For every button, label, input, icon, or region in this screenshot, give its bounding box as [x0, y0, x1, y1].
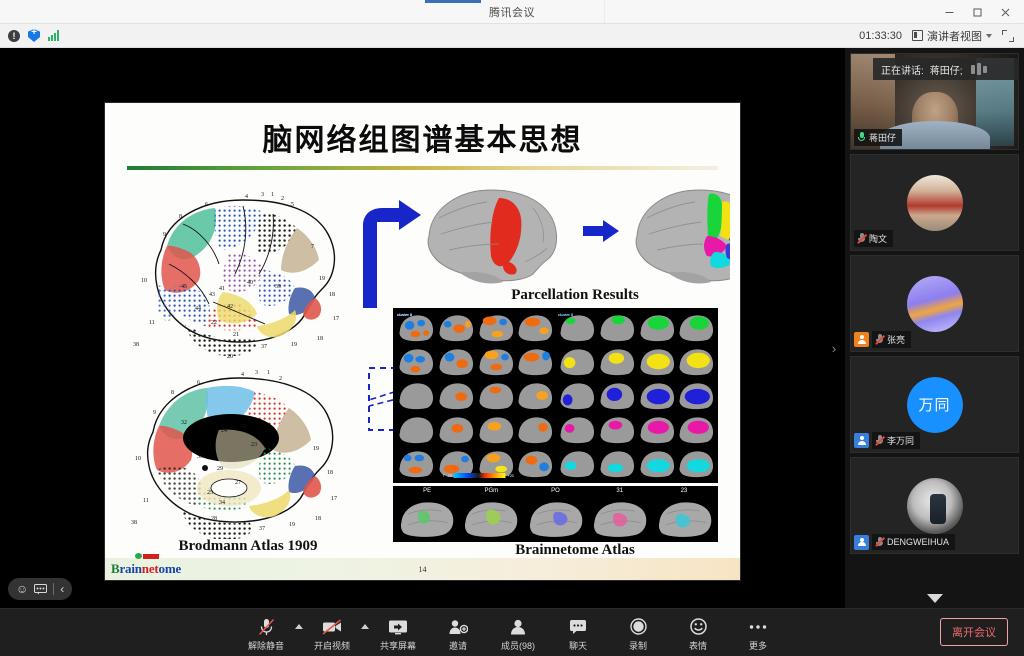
brain-cell	[588, 497, 651, 540]
mic-muted-icon	[875, 334, 884, 346]
svg-text:44: 44	[195, 306, 201, 312]
cluster-row: cluster 2	[557, 345, 715, 378]
region-label: PE	[395, 488, 459, 497]
colorbar-legend: T -20 +20	[443, 473, 514, 478]
participant-name-chip: 李万同	[872, 432, 920, 449]
slide-body: 643 125 8910 11719 181718 193720 384544 …	[105, 170, 740, 570]
svg-text:45: 45	[181, 284, 187, 290]
brodmann-atlas-figure: 643 125 8910 11719 181718 193720 384544 …	[123, 184, 368, 539]
svg-text:43: 43	[209, 292, 215, 298]
svg-text:38: 38	[131, 520, 137, 526]
window-controls	[936, 3, 1018, 21]
svg-text:6: 6	[197, 380, 200, 386]
toolbar-label: 成员(98)	[501, 639, 535, 652]
member-badge-icon	[854, 535, 869, 550]
mic-muted-icon	[875, 435, 884, 447]
leave-meeting-button[interactable]: 离开会议	[940, 618, 1008, 646]
svg-text:3: 3	[261, 192, 264, 198]
avatar	[907, 478, 963, 534]
participant-name-bar: 蒋田仔	[854, 129, 902, 146]
brain-cell	[515, 311, 554, 344]
member-badge-icon	[854, 433, 869, 448]
svg-text:6: 6	[205, 202, 208, 208]
svg-text:38: 38	[133, 342, 139, 348]
view-mode-selector[interactable]: 演讲者视图	[912, 28, 992, 44]
participant-name: 蒋田仔	[869, 131, 896, 144]
brain-cell	[557, 413, 596, 446]
svg-text:19: 19	[313, 446, 319, 452]
brain-cell	[557, 379, 596, 412]
colorbar-label: T	[443, 474, 445, 478]
meeting-status-bar: ! 01:33:30 演讲者视图	[0, 24, 1024, 48]
svg-text:37: 37	[261, 344, 267, 350]
svg-text:42: 42	[227, 304, 233, 310]
cluster-row: cluster 2	[396, 345, 554, 378]
brain-cell	[459, 497, 522, 540]
chevron-down-icon	[986, 34, 992, 38]
participant-name-bar: DENGWEIHUA	[854, 534, 955, 550]
brain-cell	[637, 413, 676, 446]
share-screen-icon	[388, 618, 408, 636]
mic-muted-icon	[875, 536, 884, 548]
presentation-slide: 脑网络组图谱基本思想	[105, 103, 740, 580]
svg-text:2: 2	[279, 376, 282, 382]
brain-cell	[676, 447, 715, 480]
video-off-icon	[322, 618, 342, 636]
svg-text:37: 37	[259, 526, 265, 532]
toolbar-label: 开启视频	[314, 639, 350, 652]
region-detail-panel: PE PGm PO 31 23	[393, 486, 718, 542]
region-label: PGm	[459, 488, 523, 497]
rail-scroll-down-button[interactable]	[845, 594, 1024, 606]
mic-muted-icon	[857, 233, 866, 245]
participant-name-chip: 蒋田仔	[854, 129, 902, 146]
svg-text:20: 20	[227, 354, 233, 360]
svg-text:7: 7	[311, 244, 314, 250]
svg-text:33: 33	[197, 454, 203, 460]
toolbar-invite-button[interactable]: 邀请	[437, 615, 479, 652]
close-button[interactable]	[992, 3, 1018, 21]
toolbar-items: 解除静音 开启视频	[0, 609, 1024, 656]
toolbar-unmute-button[interactable]: 解除静音	[245, 615, 287, 652]
participant-name: 陶文	[869, 232, 887, 245]
svg-text:25: 25	[207, 490, 213, 496]
chat-bubble-icon[interactable]	[34, 584, 47, 595]
toolbar-label: 聊天	[569, 639, 587, 652]
brain-cell	[557, 447, 596, 480]
avatar-initials: 万同	[907, 377, 963, 433]
svg-text:40: 40	[247, 280, 253, 286]
colorbar-gradient	[454, 473, 506, 478]
minimize-button[interactable]	[936, 3, 962, 21]
toolbar-label: 解除静音	[248, 639, 284, 652]
svg-text:18: 18	[329, 292, 335, 298]
window-title: 腾讯会议	[0, 4, 1024, 20]
svg-text:32: 32	[181, 420, 187, 426]
reaction-icon	[690, 618, 707, 636]
svg-text:4: 4	[245, 194, 248, 200]
cluster-row: cluster 4	[557, 413, 715, 446]
brain-cell	[396, 345, 435, 378]
toolbar-reaction-button[interactable]: 表情	[677, 615, 719, 652]
cluster-row: cluster 1	[557, 311, 715, 344]
svg-text:28: 28	[211, 516, 217, 522]
svg-text:4: 4	[241, 372, 244, 378]
network-signal-icon[interactable]	[48, 30, 59, 41]
brain-cell	[676, 413, 715, 446]
chat-icon	[569, 618, 587, 636]
brain-cell	[396, 379, 435, 412]
brain-cell	[637, 311, 676, 344]
svg-text:3: 3	[255, 370, 258, 376]
more-icon	[748, 618, 768, 636]
title-bar: 腾讯会议	[0, 0, 1024, 24]
toolbar-participants-button[interactable]: 成员(98)	[497, 615, 539, 652]
svg-text:27: 27	[235, 480, 241, 486]
toolbar-more-button[interactable]: 更多	[737, 615, 779, 652]
brain-cell	[597, 413, 636, 446]
speaking-name: 蒋田仔;	[930, 62, 963, 77]
video-options-arrow-icon[interactable]	[361, 624, 369, 629]
slide-page-number: 14	[105, 565, 740, 574]
brain-cell	[515, 447, 554, 480]
shared-screen-stage: › ☺ ‹ 脑网络组图谱基本思想	[0, 48, 845, 608]
region-brain-row	[395, 497, 716, 540]
pill-divider	[53, 583, 54, 595]
brain-cell	[524, 497, 587, 540]
participant-tile[interactable]: 陶文	[850, 154, 1019, 251]
svg-text:8: 8	[179, 214, 182, 220]
svg-text:31: 31	[241, 424, 247, 430]
brain-cell	[597, 311, 636, 344]
activation-map-half: cluster 1	[396, 311, 554, 480]
cluster-row: cluster 5	[557, 447, 715, 480]
participants-icon	[509, 618, 527, 636]
logo-mark-icon	[135, 553, 159, 559]
svg-text:17: 17	[333, 316, 339, 322]
svg-text:1: 1	[267, 370, 270, 376]
svg-text:19: 19	[291, 342, 297, 348]
participant-name-chip: DENGWEIHUA	[872, 534, 955, 550]
svg-text:8: 8	[171, 390, 174, 396]
participant-name-bar: 张亮	[854, 331, 911, 348]
toolbar-label: 邀请	[449, 639, 467, 652]
cluster-label: cluster 5	[397, 312, 412, 317]
floating-reaction-pill: ☺ ‹	[8, 578, 72, 600]
stage-collapse-chevron-icon[interactable]: ›	[827, 338, 841, 360]
svg-text:11: 11	[149, 320, 155, 326]
mic-active-icon	[857, 132, 866, 144]
active-tab-indicator	[425, 0, 481, 3]
svg-text:5: 5	[291, 202, 294, 208]
toolbar-start-video-button[interactable]: 开启视频	[311, 615, 353, 652]
svg-text:23: 23	[251, 442, 257, 448]
invite-icon	[448, 618, 468, 636]
svg-text:34: 34	[219, 500, 225, 506]
svg-text:19: 19	[319, 276, 325, 282]
region-label-row: PE PGm PO 31 23	[395, 488, 716, 497]
brain-surface-row	[415, 178, 730, 288]
audio-wave-icon	[971, 63, 987, 75]
svg-text:10: 10	[135, 456, 141, 462]
svg-text:9: 9	[153, 410, 156, 416]
toolbar-label: 表情	[689, 639, 707, 652]
meeting-toolbar: 解除静音 开启视频	[0, 608, 1024, 656]
mic-muted-icon	[258, 618, 275, 636]
toolbar-label: 共享屏幕	[380, 639, 416, 652]
brain-cell	[653, 497, 716, 540]
cluster-map-half: cluster 1 cluster 2	[557, 311, 715, 480]
brodmann-caption: Brodmann Atlas 1909	[123, 538, 373, 555]
host-badge-icon	[854, 332, 869, 347]
participant-name: 张亮	[887, 333, 905, 346]
meeting-timer: 01:33:30	[859, 30, 902, 42]
status-right-group: 01:33:30 演讲者视图	[859, 28, 1024, 44]
participant-tile[interactable]: 万同 李万同	[850, 356, 1019, 453]
toolbar-share-screen-button[interactable]: 共享屏幕	[377, 615, 419, 652]
brain-cell	[476, 311, 515, 344]
avatar	[907, 175, 963, 231]
colorbar-max: +20	[508, 474, 514, 478]
brainnetome-caption: Brainnetome Atlas	[435, 542, 715, 559]
brain-cell	[515, 413, 554, 446]
svg-text:2: 2	[281, 196, 284, 202]
fullscreen-icon[interactable]	[1002, 30, 1014, 42]
svg-text:21: 21	[233, 332, 239, 338]
parcellation-grid-panel: cluster 1	[393, 308, 718, 483]
brain-cell	[396, 447, 435, 480]
record-icon	[630, 618, 647, 636]
svg-text:10: 10	[141, 278, 147, 284]
svg-text:39: 39	[275, 284, 281, 290]
brain-cell	[395, 497, 458, 540]
participant-rail: 正在讲话: 蒋田仔; 蒋田仔 陶文	[845, 48, 1024, 608]
svg-text:41: 41	[219, 286, 225, 292]
svg-text:22: 22	[211, 320, 217, 326]
participant-name-bar: 陶文	[854, 230, 893, 247]
brain-cell	[676, 311, 715, 344]
svg-text:17: 17	[331, 496, 337, 502]
participant-name-chip: 张亮	[872, 331, 911, 348]
avatar	[907, 276, 963, 332]
speaking-prefix: 正在讲话:	[881, 62, 924, 77]
participant-tile[interactable]: 张亮	[850, 255, 1019, 352]
participant-name-bar: 李万同	[854, 432, 920, 449]
svg-text:29: 29	[217, 466, 223, 472]
participant-name: 李万同	[887, 434, 914, 447]
cluster-row: cluster 3	[396, 379, 554, 412]
svg-text:11: 11	[143, 498, 149, 504]
participant-tile[interactable]: DENGWEIHUA	[850, 457, 1019, 554]
brain-cell	[637, 447, 676, 480]
brain-cell	[637, 345, 676, 378]
speaker-view-icon	[912, 30, 923, 41]
colorbar-min: -20	[447, 474, 452, 478]
svg-text:19: 19	[289, 522, 295, 528]
avatar: 万同	[907, 377, 963, 433]
svg-text:18: 18	[317, 336, 323, 342]
parcellation-caption: Parcellation Results	[435, 287, 715, 304]
status-icons: !	[0, 29, 59, 42]
svg-text:18: 18	[315, 516, 321, 522]
info-icon[interactable]: !	[8, 30, 20, 42]
brain-cell	[676, 345, 715, 378]
toolbar-record-button[interactable]: 录制	[617, 615, 659, 652]
chevron-down-icon	[927, 594, 943, 603]
brain-cell	[597, 379, 636, 412]
region-label: 31	[588, 488, 652, 497]
cluster-row: cluster 4	[396, 413, 554, 446]
brain-cell	[515, 345, 554, 378]
region-label: PO	[523, 488, 587, 497]
maximize-button[interactable]	[964, 3, 990, 21]
brain-cell	[436, 413, 475, 446]
svg-text:1: 1	[271, 192, 274, 198]
view-mode-label: 演讲者视图	[927, 28, 982, 44]
participant-name: DENGWEIHUA	[887, 537, 949, 547]
toolbar-label: 更多	[749, 639, 767, 652]
pill-collapse-icon[interactable]: ‹	[60, 583, 64, 595]
brain-cell	[597, 447, 636, 480]
brain-cell	[476, 413, 515, 446]
emoji-icon[interactable]: ☺	[16, 583, 28, 595]
brain-cell	[436, 379, 475, 412]
participant-name-chip: 陶文	[854, 230, 893, 247]
brain-cell	[597, 345, 636, 378]
region-label: 23	[652, 488, 716, 497]
svg-text:24: 24	[221, 428, 227, 434]
brain-cell	[436, 345, 475, 378]
brain-cell	[676, 379, 715, 412]
brain-cell	[557, 345, 596, 378]
toolbar-chat-button[interactable]: 聊天	[557, 615, 599, 652]
slide-footer: Brainnetome 14	[105, 558, 740, 580]
cluster-row: cluster 1	[396, 311, 554, 344]
brain-cell	[476, 379, 515, 412]
cluster-label: cluster 5	[558, 312, 573, 317]
security-shield-icon[interactable]	[28, 29, 40, 42]
mic-options-arrow-icon[interactable]	[295, 624, 303, 629]
brain-cell	[396, 413, 435, 446]
brain-cell	[436, 311, 475, 344]
active-speaker-banner: 正在讲话: 蒋田仔;	[873, 58, 1019, 80]
svg-text:9: 9	[163, 232, 166, 238]
svg-text:18: 18	[327, 470, 333, 476]
brain-cell	[476, 345, 515, 378]
brain-cell	[515, 379, 554, 412]
cluster-row: cluster 3	[557, 379, 715, 412]
brain-cell	[637, 379, 676, 412]
tencent-meeting-window: 腾讯会议 ! 01:33:30 演讲者视图	[0, 0, 1024, 656]
slide-title: 脑网络组图谱基本思想	[105, 115, 740, 159]
toolbar-label: 录制	[629, 639, 647, 652]
